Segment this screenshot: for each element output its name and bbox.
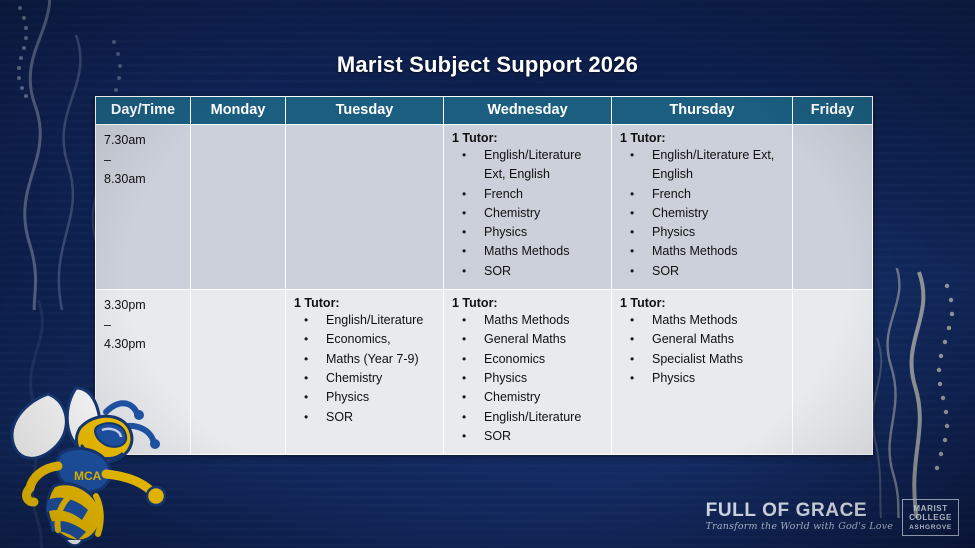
cell-thursday-afternoon: 1 Tutor: Maths Methods General Maths Spe… <box>612 290 793 455</box>
cell-thursday-morning: 1 Tutor: English/Literature Ext, English… <box>612 125 793 290</box>
svg-text:MCA: MCA <box>74 469 102 483</box>
subject-list: English/Literature Ext, English French C… <box>620 146 786 281</box>
tutor-count-label: 1 Tutor: <box>452 131 605 145</box>
list-item: Physics <box>624 369 786 388</box>
cell-monday-afternoon <box>191 290 286 455</box>
tutor-count-label: 1 Tutor: <box>620 131 786 145</box>
list-item: SOR <box>456 427 605 446</box>
school-logo-lockup: FULL OF GRACE Transform the World with G… <box>706 499 959 537</box>
list-item: English/Literature Ext, English <box>624 146 786 185</box>
time-line: 3.30pm <box>104 296 184 316</box>
list-item: Maths Methods <box>456 242 605 261</box>
cell-friday-afternoon <box>793 290 873 455</box>
time-line: 7.30am <box>104 131 184 151</box>
list-item: English/Literature <box>298 311 437 330</box>
list-item: General Maths <box>456 330 605 349</box>
list-item: Maths (Year 7-9) <box>298 350 437 369</box>
subject-list: English/Literature Economics, Maths (Yea… <box>294 311 437 427</box>
tutor-count-label: 1 Tutor: <box>294 296 437 310</box>
subject-list: Maths Methods General Maths Specialist M… <box>620 311 786 388</box>
list-item: Specialist Maths <box>624 350 786 369</box>
school-name-line1: MARIST <box>913 504 947 514</box>
tagline-sub: Transform the World with God's Love <box>706 521 893 533</box>
time-line: – <box>104 316 184 336</box>
cell-monday-morning <box>191 125 286 290</box>
school-name-line2: COLLEGE <box>909 513 952 523</box>
list-item: General Maths <box>624 330 786 349</box>
list-item: Physics <box>456 369 605 388</box>
tutor-count-label: 1 Tutor: <box>620 296 786 310</box>
list-item: Chemistry <box>624 204 786 223</box>
table-row: 3.30pm – 4.30pm 1 Tutor: English/Literat… <box>96 290 873 455</box>
logo-text-group: FULL OF GRACE Transform the World with G… <box>706 501 893 533</box>
slide: Marist Subject Support 2026 Day/Time Mon… <box>0 0 975 548</box>
time-line: 8.30am <box>104 170 184 190</box>
decorative-waves-right <box>861 268 971 518</box>
table-header-row: Day/Time Monday Tuesday Wednesday Thursd… <box>96 97 873 125</box>
time-line: 4.30pm <box>104 335 184 355</box>
time-slot-morning: 7.30am – 8.30am <box>96 125 191 290</box>
list-item: Economics, <box>298 330 437 349</box>
list-item: SOR <box>298 408 437 427</box>
schedule-table-wrapper: Day/Time Monday Tuesday Wednesday Thursd… <box>95 96 872 455</box>
school-name-line3: ASHGROVE <box>909 523 952 533</box>
list-item: Maths Methods <box>624 311 786 330</box>
subject-list: English/Literature Ext, English French C… <box>452 146 605 281</box>
time-line: – <box>104 151 184 171</box>
hornet-mascot: MCA <box>2 382 180 548</box>
list-item: Physics <box>456 223 605 242</box>
list-item: Economics <box>456 350 605 369</box>
column-header-day-time: Day/Time <box>96 97 191 125</box>
list-item: SOR <box>456 262 605 281</box>
list-item: English/Literature <box>456 408 605 427</box>
list-item: French <box>456 185 605 204</box>
list-item: French <box>624 185 786 204</box>
list-item: Chemistry <box>456 388 605 407</box>
tutor-count-label: 1 Tutor: <box>452 296 605 310</box>
school-name-box: MARIST COLLEGE ASHGROVE <box>902 499 959 537</box>
list-item: Maths Methods <box>456 311 605 330</box>
cell-tuesday-afternoon: 1 Tutor: English/Literature Economics, M… <box>286 290 444 455</box>
tagline-main: FULL OF GRACE <box>706 501 868 521</box>
table-row: 7.30am – 8.30am 1 Tutor: English/Literat… <box>96 125 873 290</box>
list-item: SOR <box>624 262 786 281</box>
list-item: English/Literature Ext, English <box>456 146 605 185</box>
cell-wednesday-morning: 1 Tutor: English/Literature Ext, English… <box>444 125 612 290</box>
column-header-monday: Monday <box>191 97 286 125</box>
subject-list: Maths Methods General Maths Economics Ph… <box>452 311 605 446</box>
list-item: Physics <box>624 223 786 242</box>
list-item: Chemistry <box>456 204 605 223</box>
list-item: Chemistry <box>298 369 437 388</box>
column-header-wednesday: Wednesday <box>444 97 612 125</box>
cell-wednesday-afternoon: 1 Tutor: Maths Methods General Maths Eco… <box>444 290 612 455</box>
column-header-thursday: Thursday <box>612 97 793 125</box>
cell-tuesday-morning <box>286 125 444 290</box>
list-item: Physics <box>298 388 437 407</box>
schedule-table: Day/Time Monday Tuesday Wednesday Thursd… <box>95 96 873 455</box>
page-title: Marist Subject Support 2026 <box>0 52 975 78</box>
cell-friday-morning <box>793 125 873 290</box>
column-header-tuesday: Tuesday <box>286 97 444 125</box>
list-item: Maths Methods <box>624 242 786 261</box>
column-header-friday: Friday <box>793 97 873 125</box>
